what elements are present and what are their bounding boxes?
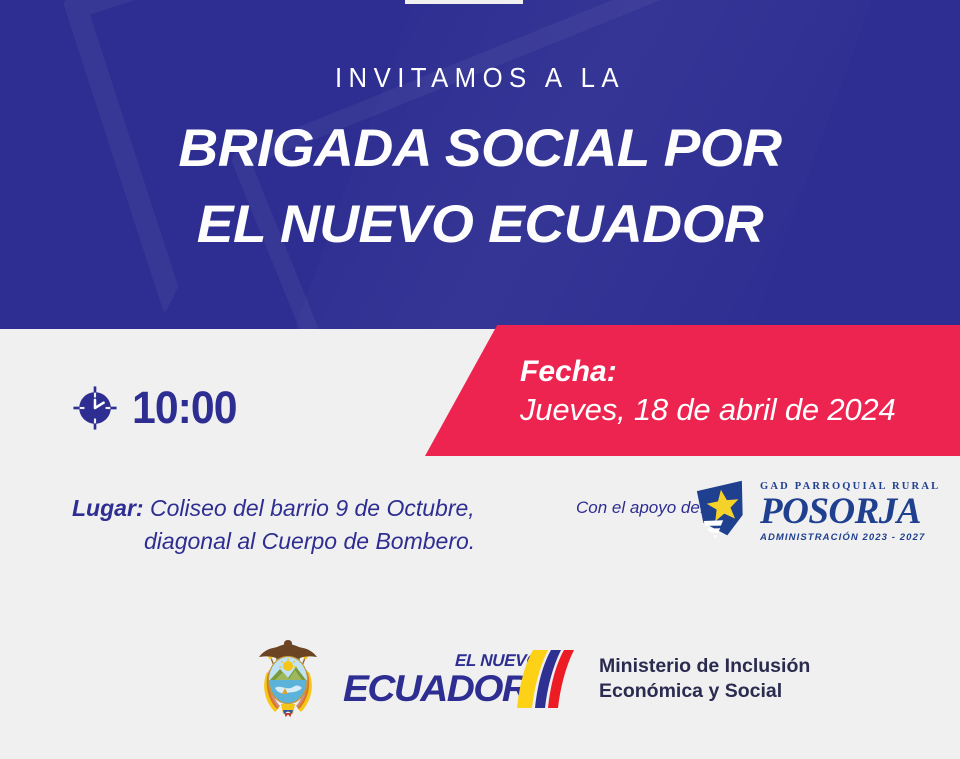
header-panel: INVITAMOS A LA BRIGADA SOCIAL POR EL NUE… <box>0 0 960 329</box>
posorja-main-text: POSORJA <box>760 494 940 529</box>
date-banner <box>425 325 960 456</box>
poster-canvas: INVITAMOS A LA BRIGADA SOCIAL POR EL NUE… <box>0 0 960 759</box>
brand-big-text: ECUADOR <box>343 668 528 710</box>
clock-icon <box>72 385 118 431</box>
footer-logo-lockup: EL NUEVO ECUADOR Ministerio de Inclusión… <box>255 636 810 722</box>
ministry-line-1: Ministerio de Inclusión <box>599 654 810 679</box>
posorja-bottom-text: ADMINISTRACIÓN 2023 - 2027 <box>760 533 940 543</box>
place-line-1: Lugar: Coliseo del barrio 9 de Octubre, <box>72 492 492 525</box>
date-value: Jueves, 18 de abril de 2024 <box>520 392 896 428</box>
place-block: Lugar: Coliseo del barrio 9 de Octubre, … <box>72 492 492 557</box>
time-row: 10:00 <box>72 382 242 434</box>
posorja-wordmark: GAD PARROQUIAL RURAL POSORJA ADMINISTRAC… <box>760 482 940 542</box>
ministry-name: Ministerio de Inclusión Económica y Soci… <box>599 654 810 704</box>
nuevo-ecuador-wordmark: EL NUEVO ECUADOR <box>343 644 575 714</box>
ecuador-coat-of-arms-icon <box>255 636 321 722</box>
time-value: 10:00 <box>132 382 237 434</box>
place-text-2: diagonal al Cuerpo de Bombero. <box>72 525 492 558</box>
posorja-logo: GAD PARROQUIAL RURAL POSORJA ADMINISTRAC… <box>688 478 940 546</box>
ministry-line-2: Económica y Social <box>599 679 810 704</box>
headline-line-2: EL NUEVO ECUADOR <box>0 198 960 251</box>
place-label: Lugar: <box>72 495 144 521</box>
posorja-shield-star-icon <box>688 478 754 546</box>
support-label: Con el apoyo de: <box>576 498 705 518</box>
ecuador-flag-stripes-icon <box>515 646 577 712</box>
place-text-1: Coliseo del barrio 9 de Octubre, <box>150 495 475 521</box>
headline-line-1: BRIGADA SOCIAL POR <box>0 122 960 175</box>
top-edge-notch <box>405 0 523 4</box>
date-label: Fecha: <box>520 355 617 389</box>
kicker-text: INVITAMOS A LA <box>38 62 921 94</box>
